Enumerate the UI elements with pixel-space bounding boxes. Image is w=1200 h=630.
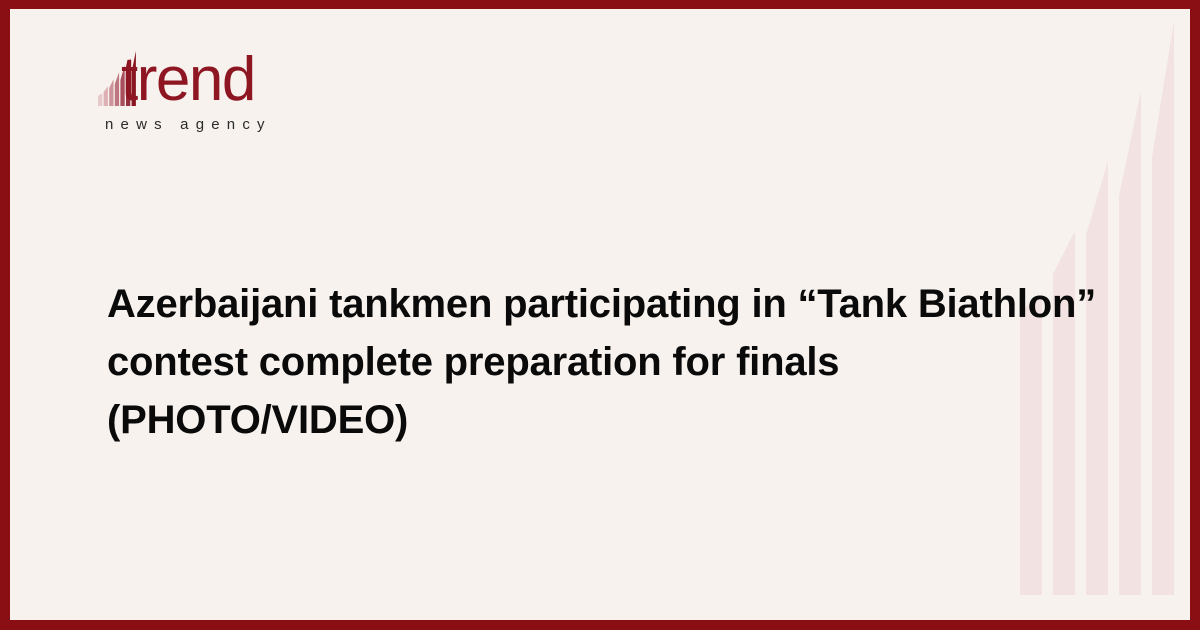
logo-wordmark-row: trend: [97, 50, 397, 108]
share-card: trend news agency Azerbaijani tankmen pa…: [0, 0, 1200, 630]
card-content-area: trend news agency Azerbaijani tankmen pa…: [10, 9, 1190, 620]
watermark-bar-4: [1119, 91, 1141, 595]
logo-tagline: news agency: [105, 116, 397, 133]
trend-logo[interactable]: trend news agency: [97, 50, 397, 140]
page-title-line-2: contest complete preparation for finals …: [107, 333, 1117, 449]
logo-wordmark-text: trend: [121, 52, 255, 108]
page-title: Azerbaijani tankmen participating in “Ta…: [107, 275, 1117, 449]
watermark-bar-5: [1152, 21, 1174, 595]
page-title-line-1: Azerbaijani tankmen participating in “Ta…: [107, 275, 1117, 333]
